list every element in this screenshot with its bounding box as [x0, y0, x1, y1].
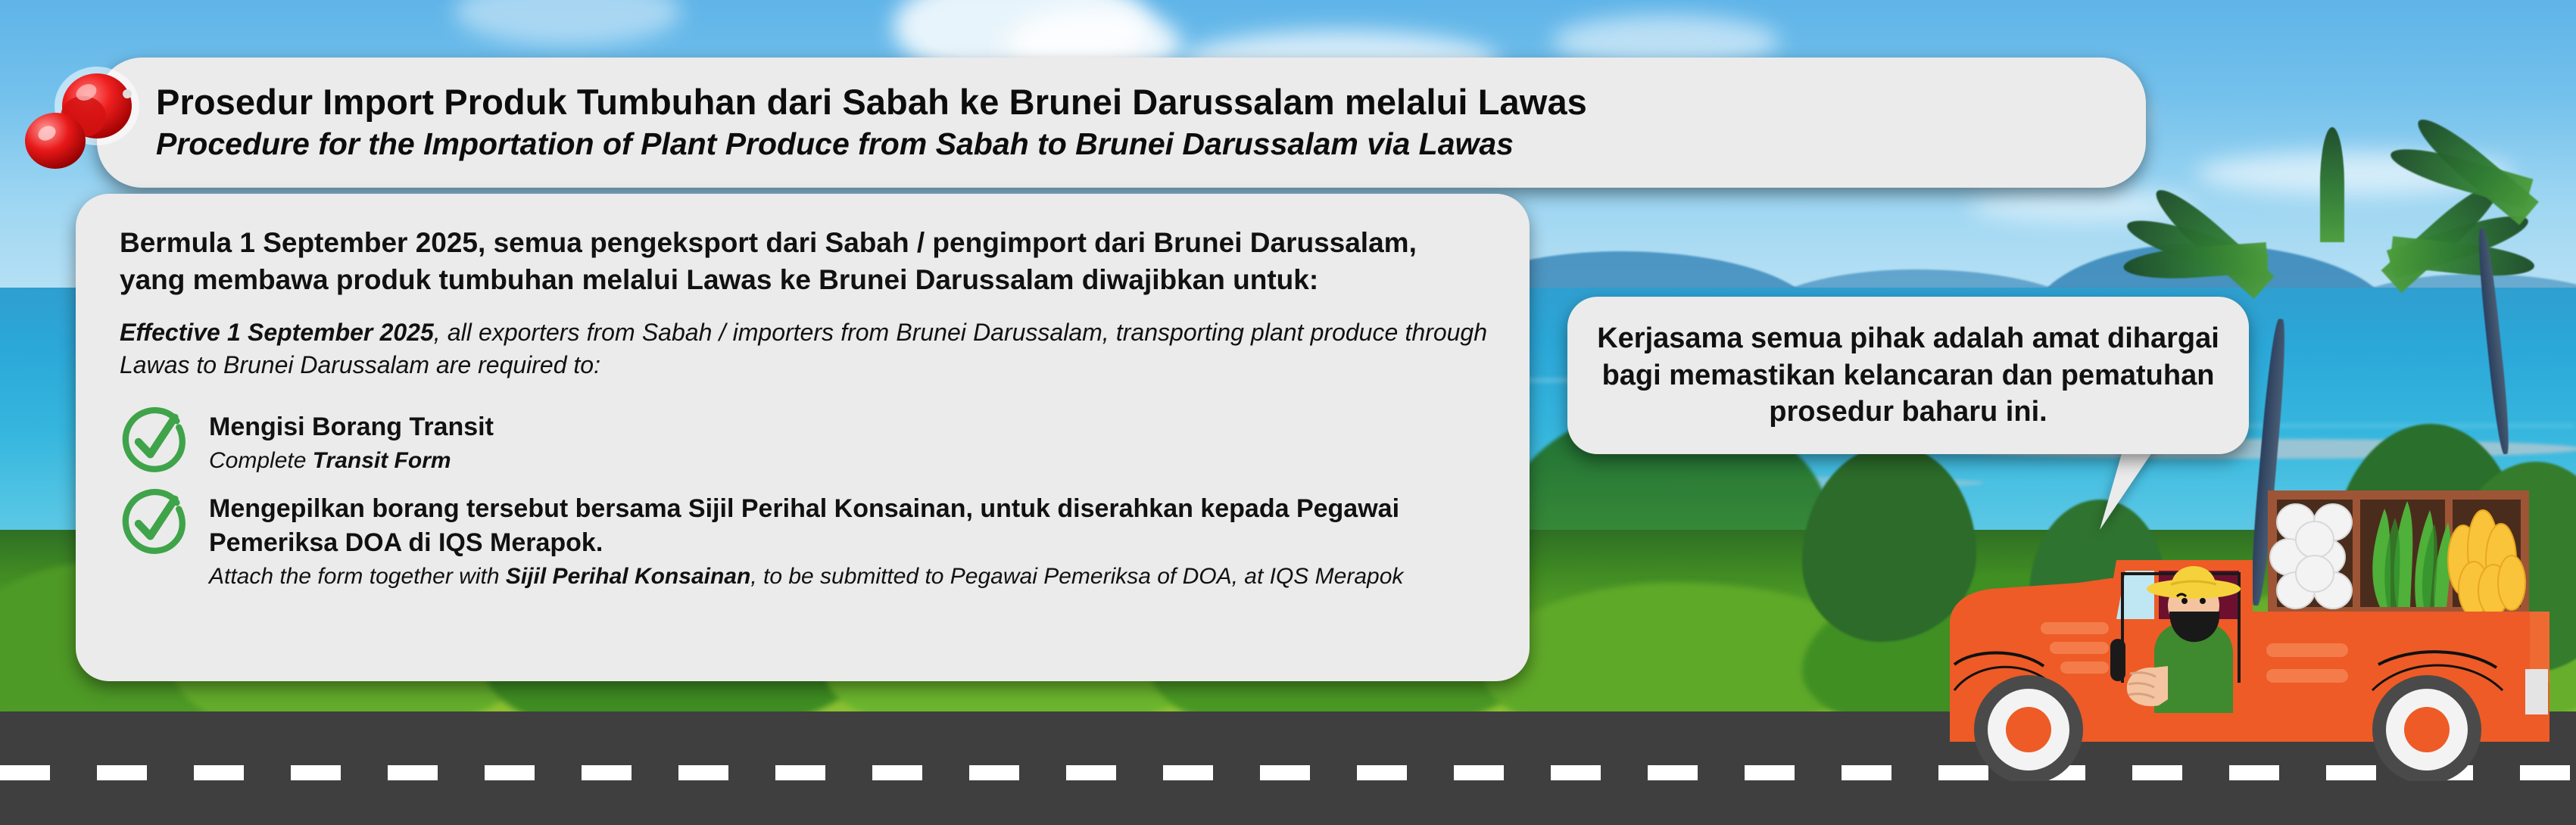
callout-text: Kerjasama semua pihak adalah amat diharg…: [1587, 320, 2229, 431]
list-item: Mengisi Borang Transit Complete Transit …: [120, 410, 1487, 475]
title-card: Prosedur Import Produk Tumbuhan dari Sab…: [97, 58, 2146, 188]
requirement-title-en: Complete Transit Form: [209, 446, 1487, 475]
green-check-circle-icon: [120, 487, 189, 557]
intro-paragraph-ms: Bermula 1 September 2025, semua pengeksp…: [120, 224, 1487, 298]
requirements-list: Mengisi Borang Transit Complete Transit …: [120, 410, 1487, 591]
req-en-prefix: Complete: [209, 448, 313, 473]
requirements-card: Bermula 1 September 2025, semua pengeksp…: [76, 194, 1530, 681]
requirement-title-en: Attach the form together with Sijil Peri…: [209, 562, 1487, 591]
orange-pickup-truck-icon: [1927, 463, 2576, 781]
intro-paragraph-en: Effective 1 September 2025, all exporter…: [120, 316, 1487, 381]
req-en-bold: Sijil Perihal Konsainan: [506, 564, 750, 589]
req-en-prefix: Attach the form together with: [209, 564, 506, 589]
list-item: Mengepilkan borang tersebut bersama Siji…: [120, 492, 1487, 590]
req-en-bold: Transit Form: [313, 448, 451, 473]
produce-crate-icon: [2268, 490, 2529, 616]
requirement-title-ms: Mengepilkan borang tersebut bersama Siji…: [209, 492, 1487, 559]
green-check-circle-icon: [120, 406, 189, 475]
truck-wheel: [1974, 675, 2083, 781]
intro-lead-ms: Bermula 1 September 2025,: [120, 227, 485, 258]
intro-lead-en: Effective 1 September 2025: [120, 319, 434, 346]
requirement-title-ms: Mengisi Borang Transit: [209, 410, 1487, 444]
callout-bubble: Kerjasama semua pihak adalah amat diharg…: [1567, 297, 2249, 454]
req-en-suffix: , to be submitted to Pegawai Pemeriksa o…: [750, 564, 1403, 589]
page-title-en: Procedure for the Importation of Plant P…: [156, 126, 2146, 163]
page-title-ms: Prosedur Import Produk Tumbuhan dari Sab…: [156, 82, 2146, 123]
truck-wheel: [2372, 675, 2481, 781]
poster-canvas: Prosedur Import Produk Tumbuhan dari Sab…: [0, 0, 2576, 825]
